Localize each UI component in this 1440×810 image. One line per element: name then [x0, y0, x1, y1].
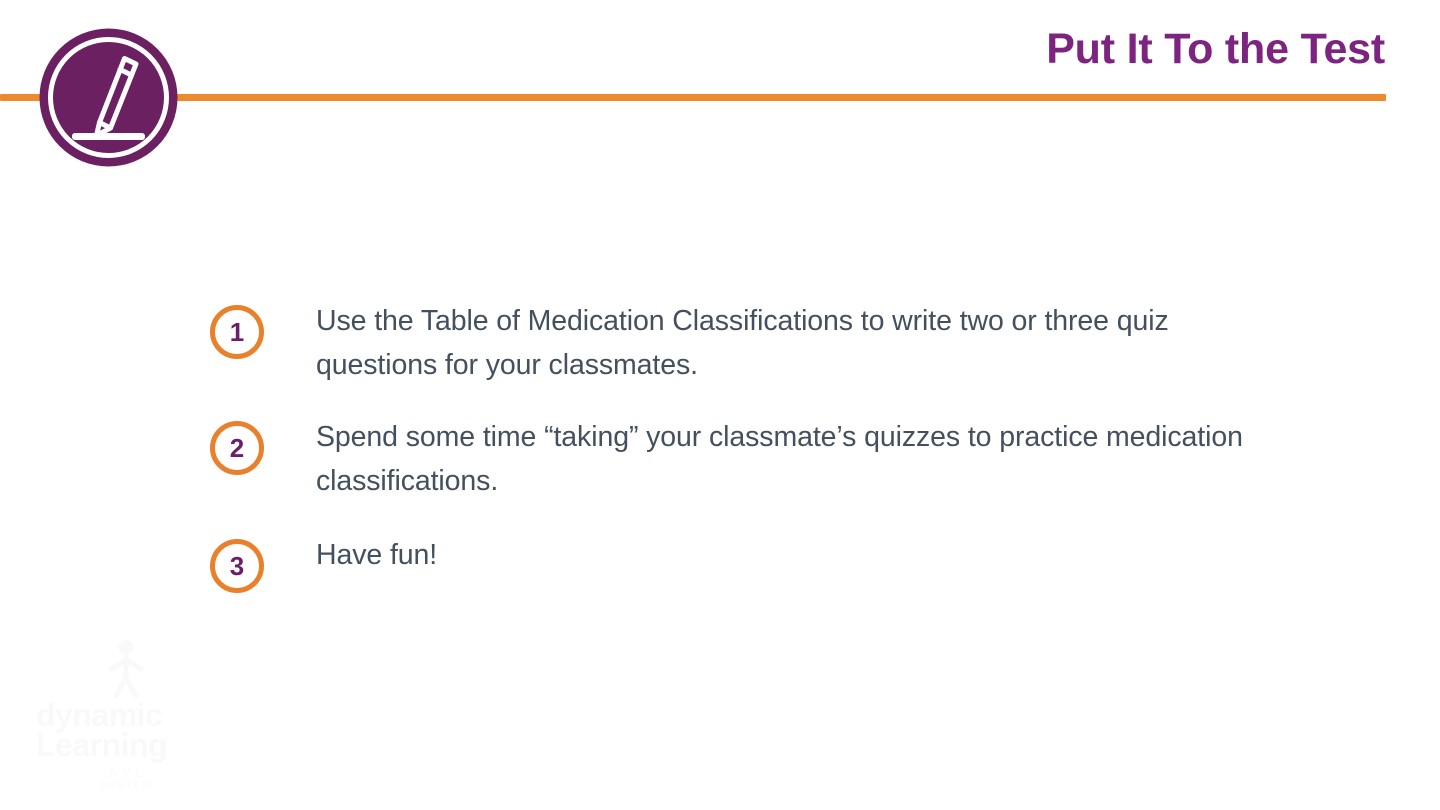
page-title: Put It To the Test — [1046, 28, 1385, 71]
watermark-subtitle: A V L — [36, 765, 216, 780]
step-text: Have fun! — [316, 534, 1270, 578]
watermark-subtitle-secondary: SYSTEM — [36, 780, 216, 792]
numbered-steps-list: 1 Use the Table of Medication Classifica… — [210, 300, 1270, 593]
step-number-badge: 2 — [210, 421, 264, 475]
watermark-name-line2: Learning — [36, 730, 216, 761]
step-text: Spend some time “taking” your classmate’… — [316, 416, 1270, 504]
brand-watermark: dynamic Learning A V L SYSTEM — [36, 638, 216, 792]
step-number-badge: 1 — [210, 305, 264, 359]
slide-header: Put It To the Test — [0, 0, 1440, 200]
pencil-circle-logo — [38, 27, 179, 168]
list-item: 1 Use the Table of Medication Classifica… — [210, 300, 1270, 388]
step-text: Use the Table of Medication Classificati… — [316, 300, 1270, 388]
list-item: 3 Have fun! — [210, 534, 1270, 593]
list-item: 2 Spend some time “taking” your classmat… — [210, 416, 1270, 504]
watermark-figure-icon — [98, 638, 154, 698]
watermark-name-line1: dynamic — [36, 700, 216, 731]
step-number-badge: 3 — [210, 539, 264, 593]
header-divider-rule — [0, 94, 1386, 101]
